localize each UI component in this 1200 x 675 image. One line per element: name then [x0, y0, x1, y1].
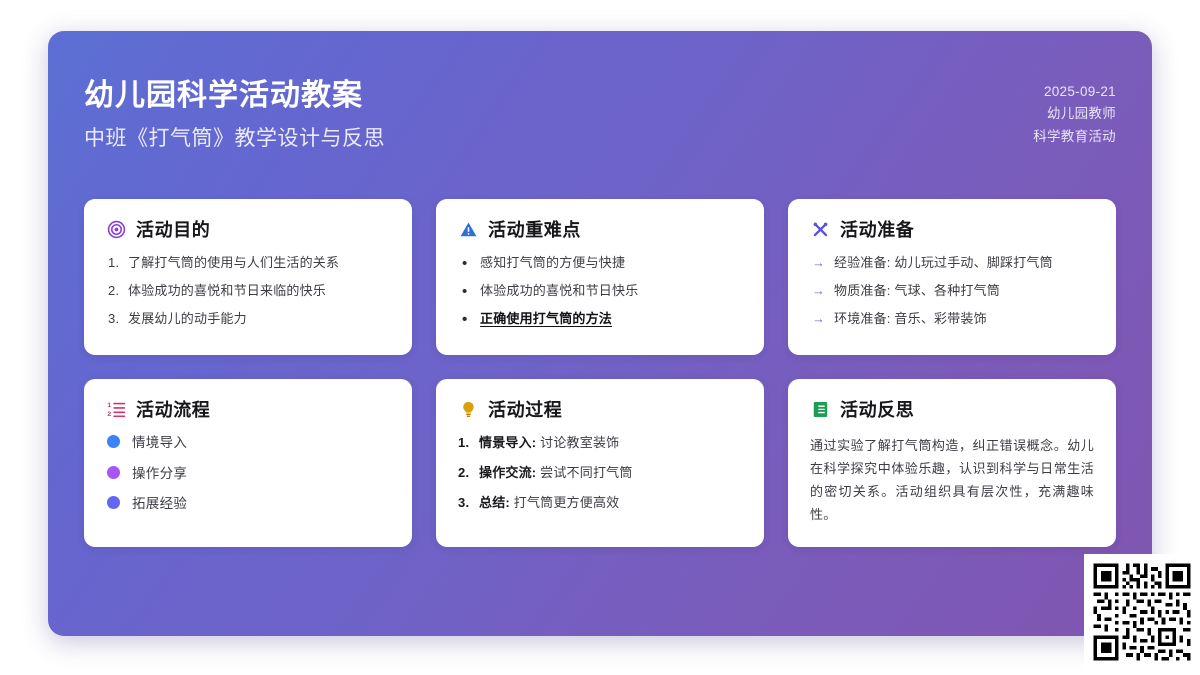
page-subtitle: 中班《打气筒》教学设计与反思 [84, 125, 385, 152]
list-item-emphasis: 正确使用打气筒的方法 [458, 310, 742, 338]
step-text: 打气筒更方便高效 [514, 495, 620, 510]
card-header: 活动反思 [810, 399, 1094, 420]
flow-label: 情境导入 [132, 435, 187, 450]
poster-page: 幼儿园科学活动教案 中班《打气筒》教学设计与反思 2025-09-21 幼儿园教… [0, 0, 1200, 675]
step-label: 总结: [479, 495, 510, 510]
card-flow: 1 2 活动流程 [84, 379, 412, 547]
qr-code[interactable] [1084, 554, 1200, 675]
card-header: 活动过程 [458, 399, 742, 420]
header-meta: 2025-09-21 幼儿园教师 科学教育活动 [1033, 77, 1116, 148]
poster-header: 幼儿园科学活动教案 中班《打气筒》教学设计与反思 2025-09-21 幼儿园教… [48, 31, 1152, 199]
meta-author: 幼儿园教师 [1033, 103, 1116, 125]
list-item: 情景导入: 讨论教室装饰 [458, 434, 742, 464]
meta-date: 2025-09-21 [1033, 81, 1116, 103]
lightbulb-icon [458, 399, 479, 420]
header-left: 幼儿园科学活动教案 中班《打气筒》教学设计与反思 [84, 77, 385, 152]
list-item: 了解打气筒的使用与人们生活的关系 [106, 254, 390, 282]
svg-text:1: 1 [107, 402, 111, 409]
card-key-difficulties: 活动重难点 感知打气筒的方便与快捷 体验成功的喜悦和节日快乐 正确使用打气筒的方… [436, 199, 764, 355]
card-title: 活动重难点 [488, 221, 581, 239]
list-item: 操作交流: 尝试不同打气筒 [458, 464, 742, 494]
process-list: 情景导入: 讨论教室装饰 操作交流: 尝试不同打气筒 总结: 打气筒更方便高效 [458, 434, 742, 525]
preparation-list: 经验准备: 幼儿玩过手动、脚踩打气筒 物质准备: 气球、各种打气筒 环境准备: … [810, 254, 1094, 338]
book-icon [810, 399, 831, 420]
tools-icon [810, 219, 831, 240]
step-label: 情景导入: [479, 435, 536, 450]
flow-label: 操作分享 [132, 466, 187, 481]
list-item: 感知打气筒的方便与快捷 [458, 254, 742, 282]
card-header: 活动目的 [106, 219, 390, 240]
list-item: 物质准备: 气球、各种打气筒 [810, 282, 1094, 310]
list-item: 经验准备: 幼儿玩过手动、脚踩打气筒 [810, 254, 1094, 282]
target-icon [106, 219, 127, 240]
list-item: 情境导入 [106, 434, 390, 465]
flow-label: 拓展经验 [132, 496, 187, 511]
card-title: 活动反思 [840, 401, 914, 419]
card-title: 活动准备 [840, 221, 914, 239]
list-item: 操作分享 [106, 465, 390, 496]
objectives-list: 了解打气筒的使用与人们生活的关系 体验成功的喜悦和节日来临的快乐 发展幼儿的动手… [106, 254, 390, 338]
card-header: 活动重难点 [458, 219, 742, 240]
qr-code-image [1090, 560, 1194, 664]
list-item: 发展幼儿的动手能力 [106, 310, 390, 338]
page-title: 幼儿园科学活动教案 [84, 77, 385, 115]
flow-list: 情境导入 操作分享 拓展经验 [106, 434, 390, 526]
card-process: 活动过程 情景导入: 讨论教室装饰 操作交流: 尝试不同打气筒 总结: 打气筒更… [436, 379, 764, 547]
list-item: 体验成功的喜悦和节日来临的快乐 [106, 282, 390, 310]
list-item: 总结: 打气筒更方便高效 [458, 494, 742, 524]
card-reflection: 活动反思 通过实验了解打气筒构造，纠正错误概念。幼儿在科学探究中体验乐趣，认识到… [788, 379, 1116, 547]
warning-triangle-icon [458, 219, 479, 240]
numbered-list-icon: 1 2 [106, 399, 127, 420]
card-header: 1 2 活动流程 [106, 399, 390, 420]
card-title: 活动过程 [488, 401, 562, 419]
step-label: 操作交流: [479, 465, 536, 480]
card-preparation: 活动准备 经验准备: 幼儿玩过手动、脚踩打气筒 物质准备: 气球、各种打气筒 环… [788, 199, 1116, 355]
step-text: 讨论教室装饰 [540, 435, 619, 450]
flow-dot [107, 496, 120, 509]
poster-panel: 幼儿园科学活动教案 中班《打气筒》教学设计与反思 2025-09-21 幼儿园教… [48, 31, 1152, 636]
card-title: 活动流程 [136, 401, 210, 419]
card-title: 活动目的 [136, 221, 210, 239]
flow-dot [107, 466, 120, 479]
card-grid: 活动目的 了解打气筒的使用与人们生活的关系 体验成功的喜悦和节日来临的快乐 发展… [84, 199, 1116, 547]
step-text: 尝试不同打气筒 [540, 465, 632, 480]
list-item: 体验成功的喜悦和节日快乐 [458, 282, 742, 310]
card-objectives: 活动目的 了解打气筒的使用与人们生活的关系 体验成功的喜悦和节日来临的快乐 发展… [84, 199, 412, 355]
difficulties-list: 感知打气筒的方便与快捷 体验成功的喜悦和节日快乐 正确使用打气筒的方法 [458, 254, 742, 338]
list-item: 环境准备: 音乐、彩带装饰 [810, 310, 1094, 338]
flow-dot [107, 435, 120, 448]
card-header: 活动准备 [810, 219, 1094, 240]
svg-text:2: 2 [107, 411, 111, 418]
reflection-paragraph: 通过实验了解打气筒构造，纠正错误概念。幼儿在科学探究中体验乐趣，认识到科学与日常… [810, 434, 1094, 527]
list-item: 拓展经验 [106, 495, 390, 526]
meta-category: 科学教育活动 [1033, 126, 1116, 148]
